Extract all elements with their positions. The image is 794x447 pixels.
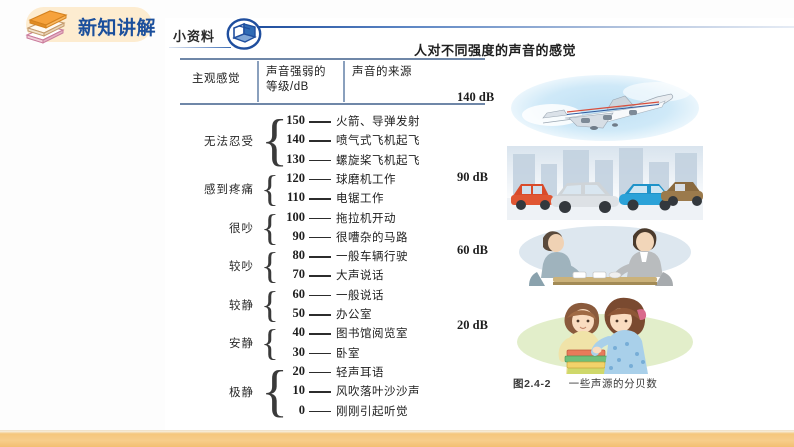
table-title: 人对不同强度的声音的感觉 — [335, 40, 655, 59]
subjective-feeling-label: 安静 — [178, 335, 254, 351]
feeling-group-brace: { — [261, 364, 275, 420]
sound-source-label: 卧室 — [336, 345, 360, 361]
decibel-row: 20轻声耳语 — [275, 364, 505, 383]
slide-canvas: 新知讲解 小资料 人对不同强度的声音的感觉 主观感觉 — [0, 0, 794, 447]
row-dash — [309, 275, 331, 277]
decibel-marker: 140 dB — [457, 90, 494, 105]
decibel-row: 100拖拉机开动 — [275, 210, 505, 229]
sound-source-label: 一般车辆行驶 — [336, 248, 408, 264]
feeling-group-brace: { — [261, 210, 275, 246]
feeling-group-brace: { — [261, 171, 275, 207]
sound-source-label: 球磨机工作 — [336, 171, 396, 187]
content-panel: 小资料 人对不同强度的声音的感觉 主观感觉 声音强弱的 等级/dB — [165, 18, 794, 430]
footer-bar — [0, 431, 794, 447]
decibel-row: 110电锯工作 — [275, 190, 505, 209]
sound-source-label: 大声说话 — [336, 267, 384, 283]
stacked-books-icon — [16, 4, 72, 46]
row-dash — [309, 237, 331, 239]
sound-source-label: 拖拉机开动 — [336, 210, 396, 226]
decibel-value: 80 — [275, 248, 305, 263]
row-dash — [309, 179, 331, 181]
decibel-value: 120 — [275, 171, 305, 186]
sound-source-label: 电锯工作 — [336, 190, 384, 206]
table-top-rule — [180, 58, 485, 60]
decibel-value: 90 — [275, 229, 305, 244]
illustration-airplane — [507, 70, 703, 146]
decibel-value: 70 — [275, 267, 305, 282]
header-rule-left — [169, 47, 231, 48]
table-header-subjective-feeling: 主观感觉 — [192, 72, 254, 87]
header-rule-right — [257, 26, 794, 28]
decibel-value: 110 — [275, 190, 305, 205]
row-dash — [309, 333, 331, 335]
sound-source-label: 一般说话 — [336, 287, 384, 303]
row-dash — [309, 198, 331, 200]
row-dash — [309, 256, 331, 258]
row-dash — [309, 411, 331, 413]
open-box-icon — [226, 18, 262, 50]
sound-source-label: 螺旋桨飞机起飞 — [336, 152, 420, 168]
subjective-feeling-label: 无法忍受 — [178, 133, 254, 149]
sound-source-label: 很嘈杂的马路 — [336, 229, 408, 245]
table-column-separator-1 — [257, 61, 259, 102]
decibel-value: 40 — [275, 325, 305, 340]
row-dash — [309, 218, 331, 220]
table-bottom-rule — [180, 103, 485, 105]
row-dash — [309, 295, 331, 297]
subjective-feeling-label: 极静 — [178, 384, 254, 400]
decibel-table-header: 主观感觉 声音强弱的 等级/dB 声音的来源 — [180, 58, 485, 104]
row-dash — [309, 160, 331, 162]
row-dash — [309, 372, 331, 374]
decibel-value: 60 — [275, 287, 305, 302]
sound-source-label: 刚刚引起听觉 — [336, 403, 408, 419]
subjective-feeling-label: 较吵 — [178, 258, 254, 274]
sound-source-label: 风吹落叶沙沙声 — [336, 383, 420, 399]
subjective-feeling-label: 较静 — [178, 297, 254, 313]
illustration-conversation — [507, 220, 703, 292]
decibel-value: 50 — [275, 306, 305, 321]
resource-label: 小资料 — [173, 26, 215, 45]
decibel-row: 150火箭、导弹发射 — [275, 113, 505, 132]
figure-caption-text: 一些声源的分贝数 — [569, 378, 658, 390]
illustration-city-traffic — [507, 146, 703, 220]
row-dash — [309, 314, 331, 316]
feeling-group-brace: { — [261, 325, 275, 361]
row-dash — [309, 353, 331, 355]
decibel-row: 60一般说话 — [275, 287, 505, 306]
badge-label: 新知讲解 — [78, 13, 156, 40]
table-header-decibel-level: 声音强弱的 等级/dB — [266, 65, 340, 95]
table-column-separator-2 — [343, 61, 345, 102]
sound-source-label: 轻声耳语 — [336, 364, 384, 380]
illustration-whispering-girls — [507, 292, 703, 374]
sound-source-label: 办公室 — [336, 306, 372, 322]
decibel-row: 130螺旋桨飞机起飞 — [275, 152, 505, 171]
decibel-marker: 90 dB — [457, 170, 488, 185]
figure-caption-number: 图2.4-2 — [513, 378, 551, 390]
feeling-group-brace: { — [261, 287, 275, 323]
decibel-row: 0刚刚引起听觉 — [275, 403, 505, 422]
table-header-decibel-level-line2: 等级/dB — [266, 81, 309, 93]
decibel-marker: 20 dB — [457, 318, 488, 333]
decibel-marker: 60 dB — [457, 243, 488, 258]
decibel-row: 30卧室 — [275, 345, 505, 364]
figure-caption: 图2.4-2 一些声源的分贝数 — [513, 376, 657, 391]
decibel-value: 100 — [275, 210, 305, 225]
sound-source-label: 喷气式飞机起飞 — [336, 132, 420, 148]
decibel-value: 30 — [275, 345, 305, 360]
section-badge: 新知讲解 — [26, 7, 152, 42]
subjective-feeling-label: 感到疼痛 — [178, 181, 254, 197]
decibel-row: 70大声说话 — [275, 267, 505, 286]
sound-source-label: 火箭、导弹发射 — [336, 113, 420, 129]
row-dash — [309, 121, 331, 123]
decibel-row: 140喷气式飞机起飞 — [275, 132, 505, 151]
sound-source-label: 图书馆阅览室 — [336, 325, 408, 341]
table-header-sound-source: 声音的来源 — [352, 65, 472, 80]
decibel-row: 10风吹落叶沙沙声 — [275, 383, 505, 402]
row-dash — [309, 140, 331, 142]
table-header-decibel-level-line1: 声音强弱的 — [266, 66, 326, 78]
row-dash — [309, 391, 331, 393]
subjective-feeling-label: 很吵 — [178, 220, 254, 236]
feeling-group-brace: { — [261, 248, 275, 284]
feeling-group-brace: { — [261, 113, 275, 169]
